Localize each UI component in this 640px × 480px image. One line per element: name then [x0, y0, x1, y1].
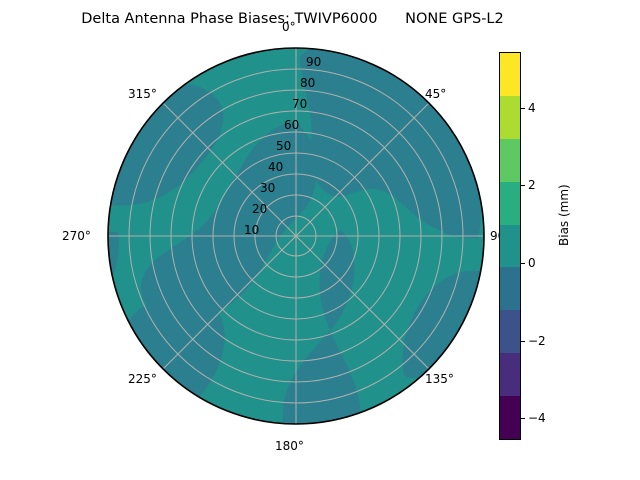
- radial-tick-90: 90: [306, 55, 321, 69]
- colorbar-band-7: [500, 353, 520, 396]
- radial-tick-70: 70: [292, 97, 307, 111]
- colorbar-band-3: [500, 182, 520, 225]
- polar-plot[interactable]: 90 80 70 60 50 40 30 20 10 0° 45° 90 135…: [104, 44, 488, 428]
- colorbar-band-5: [500, 267, 520, 310]
- colorbar-tick-2: [521, 185, 525, 186]
- colorbar-ticklabel-0: 0: [528, 257, 536, 269]
- contour-blob-bottom-right-corner: [392, 396, 460, 428]
- colorbar-band-8: [500, 396, 520, 439]
- colorbar-tick-0: [521, 263, 525, 264]
- radial-tick-40: 40: [268, 160, 283, 174]
- figure-canvas: Delta Antenna Phase Biases: TWIVP6000 NO…: [0, 0, 640, 480]
- colorbar-band-2: [500, 139, 520, 182]
- radial-tick-60: 60: [284, 118, 299, 132]
- radial-tick-20: 20: [252, 202, 267, 216]
- azimuth-label-270: 270°: [62, 230, 91, 243]
- colorbar-ticklabel-m4: −4: [528, 412, 546, 424]
- colorbar-axis-label: Bias (mm): [557, 184, 571, 246]
- colorbar-band-6: [500, 310, 520, 353]
- colorbar-ticklabel-m2: −2: [528, 335, 546, 347]
- colorbar-tick-m2: [521, 341, 525, 342]
- colorbar-ticklabel-4: 4: [528, 102, 536, 114]
- colorbar-band-1: [500, 96, 520, 139]
- polar-contour-svg: 90 80 70 60 50 40 30 20 10: [104, 44, 488, 428]
- radial-tick-50: 50: [276, 139, 291, 153]
- colorbar-tick-4: [521, 108, 525, 109]
- colorbar-band-4: [500, 225, 520, 268]
- radial-tick-30: 30: [260, 181, 275, 195]
- colorbar-ticklabel-2: 2: [528, 179, 536, 191]
- radial-tick-10: 10: [244, 223, 259, 237]
- azimuth-label-0: 0°: [282, 21, 296, 34]
- colorbar-band-0: [500, 53, 520, 96]
- colorbar-tick-m4: [521, 418, 525, 419]
- colorbar-gradient: [499, 52, 521, 440]
- colorbar[interactable]: 4 2 0 −2 −4: [499, 52, 521, 440]
- azimuth-label-315: 315°: [128, 88, 157, 101]
- azimuth-label-180: 180°: [275, 440, 304, 453]
- azimuth-label-225: 225°: [128, 373, 157, 386]
- azimuth-label-135: 135°: [425, 373, 454, 386]
- azimuth-label-45: 45°: [425, 88, 446, 101]
- radial-tick-80: 80: [300, 76, 315, 90]
